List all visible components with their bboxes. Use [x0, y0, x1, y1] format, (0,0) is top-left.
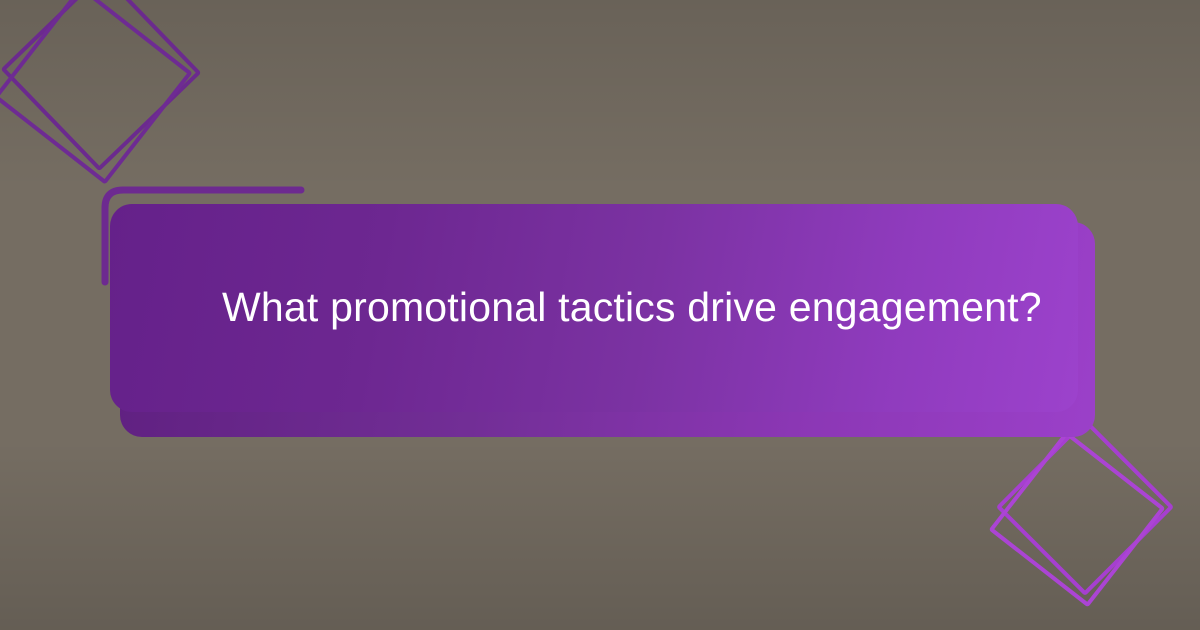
card-title: What promotional tactics drive engagemen…	[110, 283, 1102, 332]
decoration-bottom-right-diamonds	[980, 432, 1195, 630]
promo-card[interactable]: What promotional tactics drive engagemen…	[110, 204, 1078, 412]
diamond-outline-d	[991, 433, 1162, 604]
diamond-outline-b	[0, 0, 190, 182]
decoration-top-left-diamonds	[0, 0, 214, 212]
diamond-outline-a	[3, 0, 198, 169]
banner-stage: What promotional tactics drive engagemen…	[0, 0, 1200, 630]
